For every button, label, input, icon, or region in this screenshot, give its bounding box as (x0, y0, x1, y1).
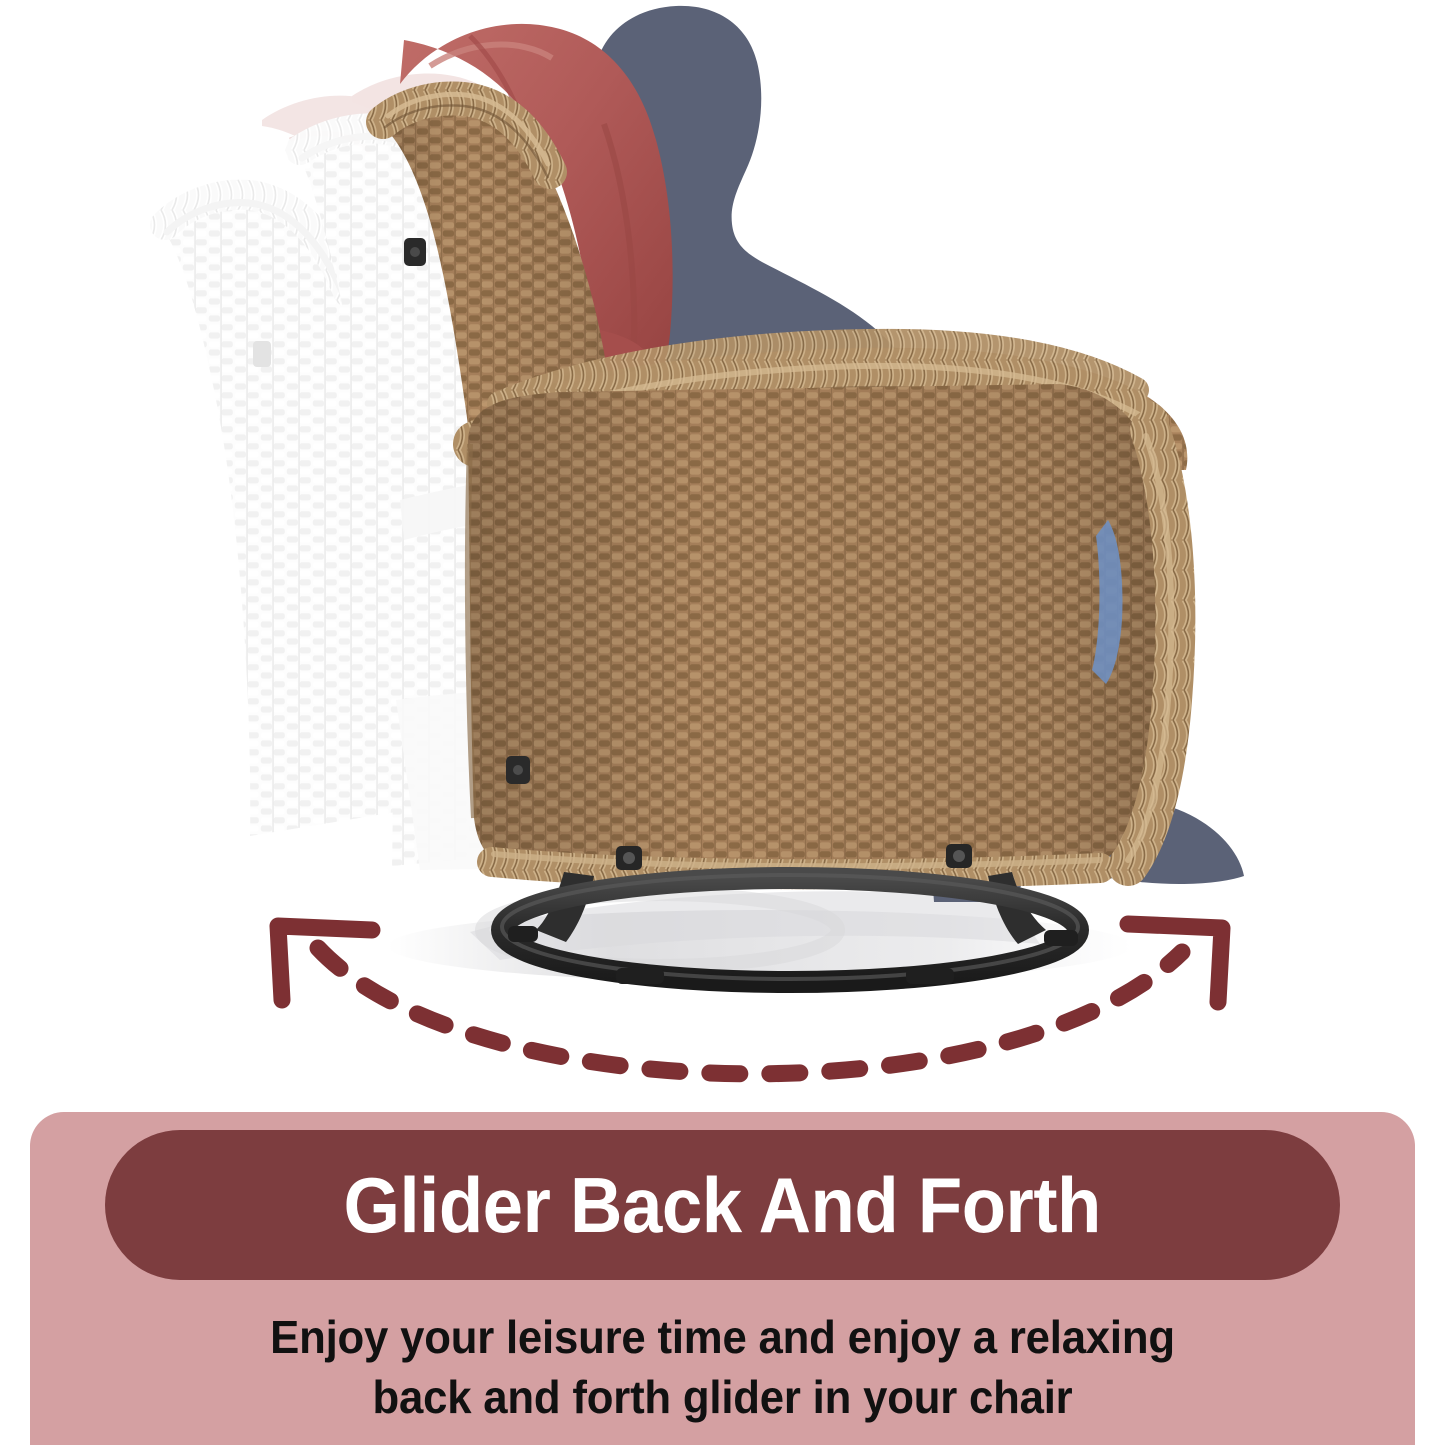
feature-title-pill: Glider Back And Forth (105, 1130, 1340, 1280)
chair-scene-svg (0, 0, 1445, 1110)
feature-subtitle-line-1: Enjoy your leisure time and enjoy a rela… (122, 1308, 1324, 1368)
product-feature-graphic: Glider Back And Forth Enjoy your leisure… (0, 0, 1445, 1445)
caption-panel: Glider Back And Forth Enjoy your leisure… (30, 1112, 1415, 1445)
feature-title: Glider Back And Forth (344, 1166, 1101, 1244)
feature-subtitle: Enjoy your leisure time and enjoy a rela… (90, 1308, 1355, 1428)
product-illustration (0, 0, 1445, 1110)
chair-side-panel (440, 370, 1200, 890)
feature-subtitle-line-2: back and forth glider in your chair (122, 1368, 1324, 1428)
main-chair (360, 90, 1200, 890)
